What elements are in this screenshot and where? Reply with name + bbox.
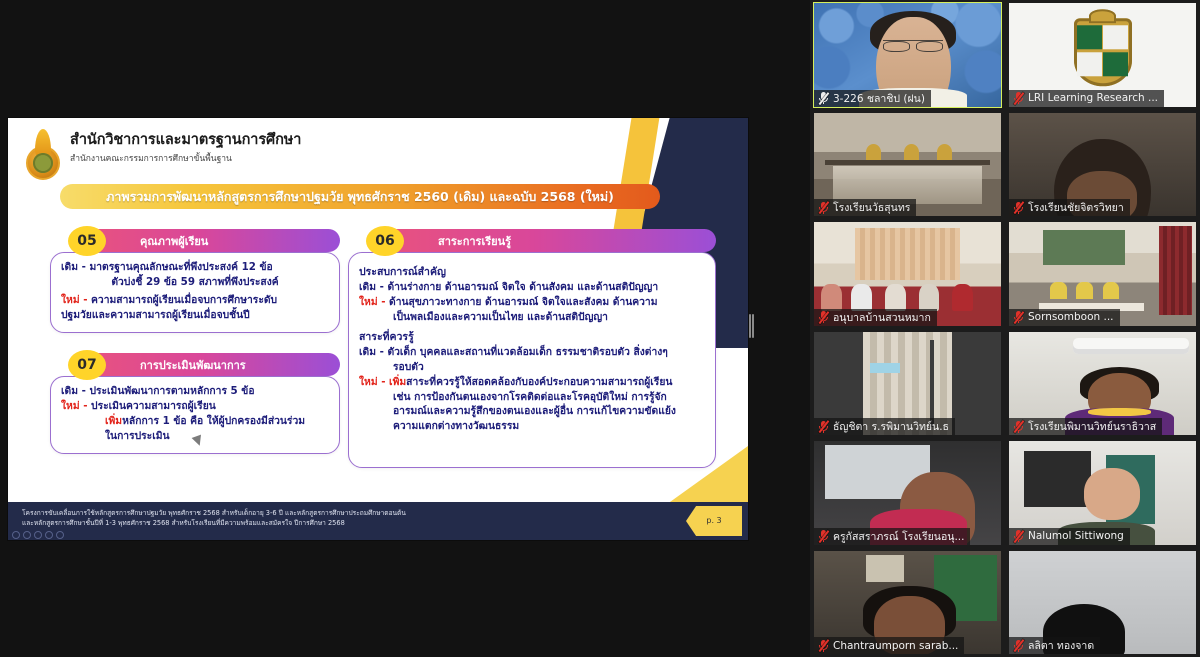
video-tile[interactable]: โรงเรียนชัยจิตรวิทยา — [1005, 110, 1200, 220]
slide-footer-line-1: โครงการขับเคลื่อนการใช้หลักสูตรการศึกษาป… — [22, 508, 738, 518]
mic-muted-icon — [1013, 201, 1024, 214]
meeting-screen: สำนักวิชาการและมาตรฐานการศึกษา สำนักงานค… — [0, 0, 1200, 657]
section-05-line-1: เดิม - มาตรฐานคุณลักษณะที่พึงประสงค์ 12 … — [61, 260, 329, 275]
participant-name: โรงเรียนพิมานวิทย์นราธิวาส — [1028, 418, 1156, 435]
mic-muted-icon — [818, 639, 829, 652]
participant-namebar: Sornsomboon ... — [1009, 309, 1120, 326]
slide-page-number: p. 3 — [686, 506, 742, 536]
section-06-g2-line-1: เดิม - ตัวเด็ก บุคคลและสถานที่แวดล้อมเด็… — [359, 345, 705, 360]
participant-namebar: Chantraumporn sarab... — [814, 637, 964, 654]
shared-screen-stage[interactable]: สำนักวิชาการและมาตรฐานการศึกษา สำนักงานค… — [0, 0, 810, 657]
participant-namebar: ลลิตา ทองจาด — [1009, 637, 1100, 654]
section-07-pill: การประเมินพัฒนาการ — [86, 353, 340, 376]
participant-name: Sornsomboon ... — [1028, 311, 1114, 323]
section-05: คุณภาพผู้เรียน 05 เดิม - มาตรฐานคุณลักษณ… — [50, 226, 340, 333]
section-05-pill: คุณภาพผู้เรียน — [86, 229, 340, 252]
section-06-g2-line-3: ใหม่ - เพิ่มสาระที่ควรรู้ให้สอดคล้องกับอ… — [359, 375, 705, 390]
mic-muted-icon — [1013, 311, 1024, 324]
slide-header: สำนักวิชาการและมาตรฐานการศึกษา สำนักงานค… — [24, 132, 301, 182]
section-06-badge: 06 — [366, 226, 404, 256]
participant-namebar: Nalumol Sittiwong — [1009, 528, 1130, 545]
slide-footer: โครงการขับเคลื่อนการใช้หลักสูตรการศึกษาป… — [8, 502, 748, 540]
video-tile[interactable]: Nalumol Sittiwong — [1005, 438, 1200, 548]
participant-namebar: โรงเรียนชัยจิตรวิทยา — [1009, 199, 1130, 216]
section-06-g2-line-5: อารมณ์และความรู้สึกของตนเองและผู้อื่น กา… — [359, 404, 705, 419]
video-tile[interactable]: Sornsomboon ... — [1005, 219, 1200, 329]
participant-name: ครูกัสสราภรณ์ โรงเรียนอนุ... — [833, 528, 964, 545]
video-tile[interactable]: โรงเรียนพิมานวิทย์นราธิวาส — [1005, 329, 1200, 439]
section-06-body: ประสบการณ์สำคัญ เดิม - ด้านร่างกาย ด้านอ… — [348, 252, 716, 468]
participant-name: Chantraumporn sarab... — [833, 640, 958, 652]
video-tile[interactable]: Chantraumporn sarab... — [810, 548, 1005, 657]
mic-muted-icon — [818, 530, 829, 543]
section-06: สาระการเรียนรู้ 06 ประสบการณ์สำคัญ เดิม … — [348, 226, 716, 468]
participant-namebar: LRI Learning Research ... — [1009, 90, 1164, 107]
slide-footer-line-2: และหลักสูตรการศึกษาชั้นปีที่ 1-3 พุทธศัก… — [22, 518, 738, 528]
section-07-header: การประเมินพัฒนาการ 07 — [68, 350, 340, 380]
mic-muted-icon — [818, 420, 829, 433]
presentation-slide[interactable]: สำนักวิชาการและมาตรฐานการศึกษา สำนักงานค… — [8, 118, 748, 540]
section-06-g2-line-6: ความแตกต่างทางวัฒนธรรม — [359, 419, 705, 434]
participant-name: Nalumol Sittiwong — [1028, 530, 1124, 542]
mic-muted-icon — [1013, 92, 1024, 105]
section-06-g2-line-4: เช่น การป้องกันตนเองจากโรคติดต่อและโรคอุ… — [359, 390, 705, 405]
participant-namebar: อนุบาลบ้านสวนหมาก — [814, 309, 937, 326]
section-05-line-3: ใหม่ - ความสามารถผู้เรียนเมื่อจบการศึกษา… — [61, 293, 329, 308]
video-tile[interactable]: อนุบาลบ้านสวนหมาก — [810, 219, 1005, 329]
video-tile[interactable]: ลลิตา ทองจาด — [1005, 548, 1200, 657]
mic-muted-icon — [1013, 530, 1024, 543]
section-06-g1-line-3: เป็นพลเมืองและความเป็นไทย และด้านสติปัญญ… — [359, 310, 705, 325]
participant-name: โรงเรียนวัธสุนทร — [833, 199, 910, 216]
section-06-g1-line-2: ใหม่ - ด้านสุขภาวะทางกาย ด้านอารมณ์ จิตใ… — [359, 295, 705, 310]
participant-namebar: โรงเรียนวัธสุนทร — [814, 199, 916, 216]
participant-namebar: ธัญชิตา ร.รพิมานวิทย์น.ธ — [814, 418, 955, 435]
section-06-g2-line-2: รอบตัว — [359, 360, 705, 375]
section-06-group-2-heading: สาระที่ควรรู้ — [359, 328, 705, 345]
section-07-line-3: เพิ่มหลักการ 1 ข้อ คือ ให้ผู้ปกครองมีส่ว… — [61, 414, 329, 429]
section-07-line-2: ใหม่ - ประเมินความสามารถผู้เรียน — [61, 399, 329, 414]
slide-footer-dots — [12, 531, 64, 539]
section-05-title: คุณภาพผู้เรียน — [140, 232, 208, 250]
organization-subtitle: สำนักงานคณะกรรมการการศึกษาขั้นพื้นฐาน — [70, 151, 301, 165]
section-05-line-2: ตัวบ่งชี้ 29 ข้อ 59 สภาพที่พึงประสงค์ — [61, 275, 329, 290]
section-07-line-1: เดิม - ประเมินพัฒนาการตามหลักการ 5 ข้อ — [61, 384, 329, 399]
mic-muted-icon — [1013, 420, 1024, 433]
section-05-body: เดิม - มาตรฐานคุณลักษณะที่พึงประสงค์ 12 … — [50, 252, 340, 333]
slide-title-text: ภาพรวมการพัฒนาหลักสูตรการศึกษาปฐมวัย พุท… — [106, 187, 614, 207]
participant-namebar: โรงเรียนพิมานวิทย์นราธิวาส — [1009, 418, 1162, 435]
mic-muted-icon — [1013, 639, 1024, 652]
mic-muted-icon — [818, 311, 829, 324]
mic-muted-icon — [818, 92, 829, 105]
section-06-title: สาระการเรียนรู้ — [438, 232, 511, 250]
participant-name: ลลิตา ทองจาด — [1028, 637, 1094, 654]
panel-splitter-handle[interactable] — [749, 313, 754, 339]
participant-namebar: ครูกัสสราภรณ์ โรงเรียนอนุ... — [814, 528, 970, 545]
video-tile[interactable]: ครูกัสสราภรณ์ โรงเรียนอนุ... — [810, 438, 1005, 548]
section-06-header: สาระการเรียนรู้ 06 — [366, 226, 716, 256]
school-crest-icon — [1074, 18, 1132, 86]
participant-name: อนุบาลบ้านสวนหมาก — [833, 309, 931, 326]
section-07-title: การประเมินพัฒนาการ — [140, 356, 246, 374]
section-06-group-1-heading: ประสบการณ์สำคัญ — [359, 263, 705, 280]
participant-video-strip[interactable]: 3-226 ชลาชิป (ฝน) LRI Learning Research … — [810, 0, 1200, 657]
video-tile[interactable]: 3-226 ชลาชิป (ฝน) — [810, 0, 1005, 110]
mic-muted-icon — [818, 201, 829, 214]
section-05-header: คุณภาพผู้เรียน 05 — [68, 226, 340, 256]
section-05-line-4: ปฐมวัยและความสามารถผู้เรียนเมื่อจบชั้นปี — [61, 308, 329, 323]
participant-name: 3-226 ชลาชิป (ฝน) — [833, 90, 925, 107]
participant-name: LRI Learning Research ... — [1028, 92, 1158, 104]
participant-name: ธัญชิตา ร.รพิมานวิทย์น.ธ — [833, 418, 949, 435]
ministry-emblem-icon — [24, 132, 62, 182]
section-06-pill: สาระการเรียนรู้ — [384, 229, 716, 252]
slide-title-banner: ภาพรวมการพัฒนาหลักสูตรการศึกษาปฐมวัย พุท… — [60, 184, 660, 209]
section-06-g1-line-1: เดิม - ด้านร่างกาย ด้านอารมณ์ จิตใจ ด้าน… — [359, 280, 705, 295]
participant-name: โรงเรียนชัยจิตรวิทยา — [1028, 199, 1124, 216]
section-07-badge: 07 — [68, 350, 106, 380]
organization-name: สำนักวิชาการและมาตรฐานการศึกษา — [70, 132, 301, 149]
video-tile[interactable]: LRI Learning Research ... — [1005, 0, 1200, 110]
participant-namebar: 3-226 ชลาชิป (ฝน) — [814, 90, 931, 107]
section-05-badge: 05 — [68, 226, 106, 256]
video-tile[interactable]: โรงเรียนวัธสุนทร — [810, 110, 1005, 220]
video-tile[interactable]: ธัญชิตา ร.รพิมานวิทย์น.ธ — [810, 329, 1005, 439]
